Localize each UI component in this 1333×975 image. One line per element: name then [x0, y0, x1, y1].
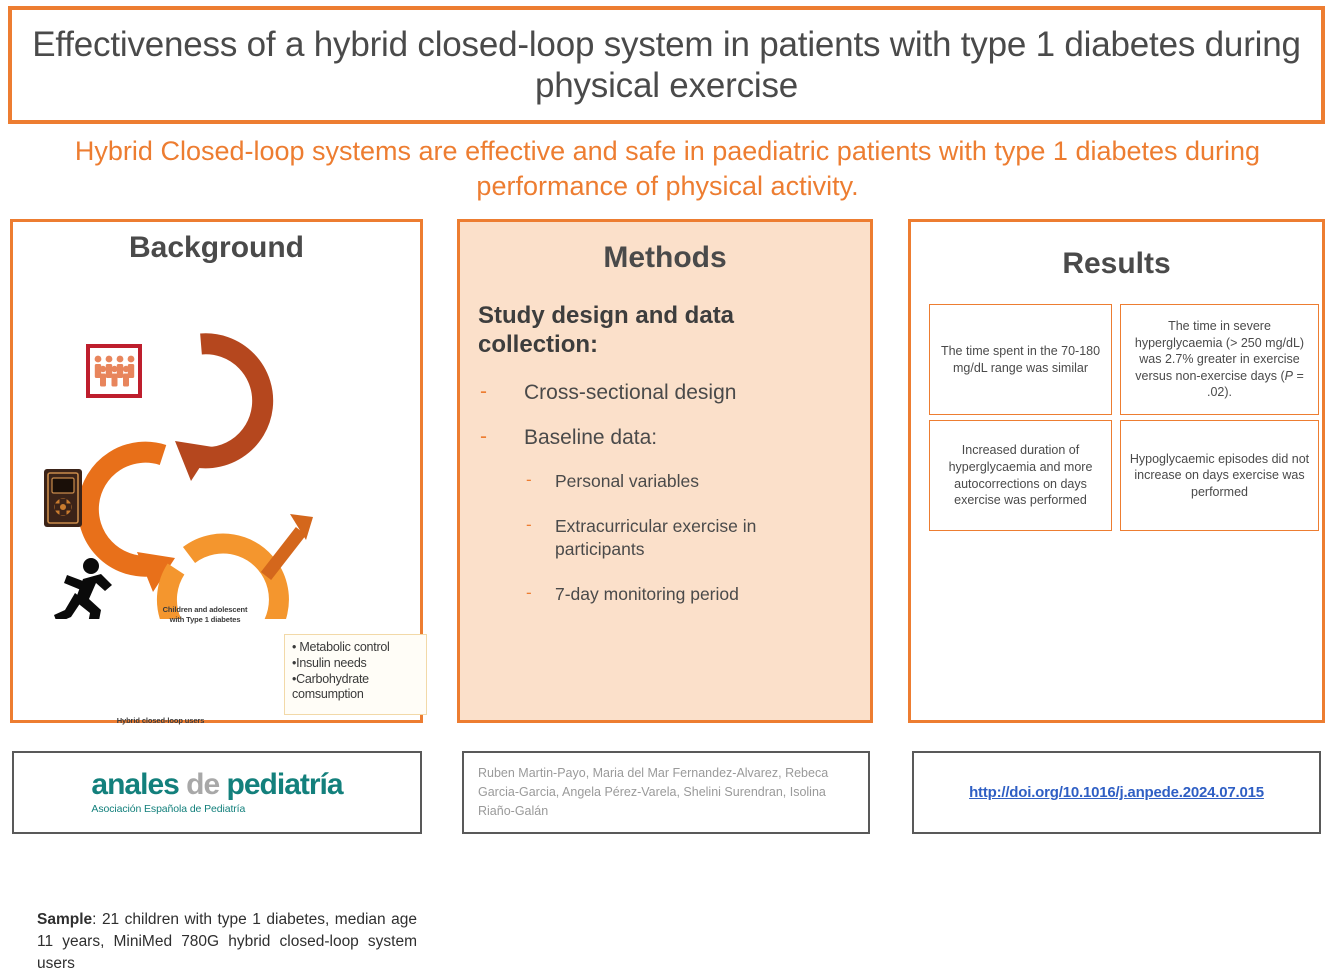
- authors-box: Ruben Martin-Payo, Maria del Mar Fernand…: [462, 751, 870, 834]
- list-marker: -: [478, 380, 524, 406]
- results-panel: Results The time spent in the 70-180 mg/…: [908, 219, 1325, 723]
- result-box-time-in-range: The time spent in the 70-180 mg/dL range…: [929, 304, 1112, 415]
- page-title: Effectiveness of a hybrid closed-loop sy…: [12, 24, 1321, 107]
- background-cycle-diagram: Children and adolescent with Type 1 diab…: [13, 269, 426, 619]
- background-panel-title: Background: [13, 231, 420, 265]
- methods-subitem-personal-variables: - Personal variables: [526, 470, 848, 493]
- logo-word-anales: anales: [91, 768, 178, 801]
- people-group-icon: [88, 346, 140, 396]
- methods-heading: Study design and data collection:: [478, 301, 848, 360]
- result-text: The time spent in the 70-180 mg/dL range…: [938, 343, 1103, 376]
- cycle-label-children: Children and adolescent with Type 1 diab…: [160, 605, 250, 625]
- result-text: Hypoglycaemic episodes did not increase …: [1129, 451, 1310, 501]
- methods-item-label: Cross-sectional design: [524, 380, 736, 406]
- methods-subitem-label: 7-day monitoring period: [555, 583, 739, 606]
- background-panel: Background: [10, 219, 423, 723]
- sample-label: Sample: [37, 911, 92, 928]
- logo-word-pediatria: pediatría: [227, 768, 343, 801]
- methods-item-baseline-data: - Baseline data:: [478, 425, 848, 451]
- methods-subitem-label: Extracurricular exercise in participants: [555, 515, 848, 561]
- cycle-diagram-svg: [13, 269, 426, 619]
- methods-panel-title: Methods: [460, 241, 870, 275]
- result-text-pre: The time in severe hyperglycaemia (> 250…: [1135, 319, 1304, 383]
- methods-item-label: Baseline data:: [524, 425, 657, 451]
- insulin-pump-icon: [44, 469, 82, 527]
- list-marker: -: [526, 470, 555, 493]
- runner-icon: [54, 558, 112, 619]
- methods-panel: Methods Study design and data collection…: [457, 219, 873, 723]
- doi-link[interactable]: http://doi.org/10.1016/j.anpede.2024.07.…: [969, 784, 1264, 801]
- bullet-metabolic-control: • Metabolic control: [292, 640, 422, 656]
- doi-box: http://doi.org/10.1016/j.anpede.2024.07.…: [912, 751, 1321, 834]
- journal-logo-box: anales de pediatría Asociación Española …: [12, 751, 422, 834]
- list-marker: -: [478, 425, 524, 451]
- methods-item-cross-sectional: - Cross-sectional design: [478, 380, 848, 406]
- result-text-italic: P: [1285, 369, 1293, 383]
- results-panel-title: Results: [911, 247, 1322, 281]
- list-marker: -: [526, 515, 555, 561]
- logo-wordmark: anales de pediatría: [91, 770, 342, 800]
- result-box-hyperglycaemia-duration: Increased duration of hyperglycaemia and…: [929, 420, 1112, 531]
- result-box-severe-hyperglycaemia: The time in severe hyperglycaemia (> 250…: [1120, 304, 1319, 415]
- sample-body: : 21 children with type 1 diabetes, medi…: [37, 911, 417, 972]
- methods-subitem-extracurricular-exercise: - Extracurricular exercise in participan…: [526, 515, 848, 561]
- poster-title-box: Effectiveness of a hybrid closed-loop sy…: [8, 6, 1325, 124]
- sample-description: Sample: 21 children with type 1 diabetes…: [37, 909, 417, 975]
- bullet-carbohydrate-cont: comsumption: [292, 687, 422, 703]
- logo-word-de: de: [186, 768, 219, 801]
- results-grid: The time spent in the 70-180 mg/dL range…: [929, 304, 1304, 531]
- methods-subitem-monitoring-period: - 7-day monitoring period: [526, 583, 848, 606]
- result-text: The time in severe hyperglycaemia (> 250…: [1129, 318, 1310, 401]
- circle-arrow-hcl-users-icon: [88, 452, 175, 592]
- outcome-bullets-box: • Metabolic control •Insulin needs •Carb…: [284, 634, 427, 715]
- bullet-carbohydrate: •Carbohydrate: [292, 672, 422, 688]
- methods-subitem-label: Personal variables: [555, 470, 699, 493]
- methods-body: Study design and data collection: - Cros…: [460, 275, 870, 605]
- anales-de-pediatria-logo: anales de pediatría Asociación Española …: [91, 770, 342, 815]
- result-box-hypoglycaemic-episodes: Hypoglycaemic episodes did not increase …: [1120, 420, 1319, 531]
- list-marker: -: [526, 583, 555, 606]
- poster-subtitle: Hybrid Closed-loop systems are effective…: [40, 134, 1295, 203]
- diagonal-arrow-icon: [266, 514, 313, 576]
- cycle-label-hcl-users: Hybrid closed-loop users: [108, 716, 213, 726]
- logo-tagline: Asociación Española de Pediatría: [91, 803, 342, 815]
- circle-arrow-children-icon: [175, 344, 263, 481]
- result-text: Increased duration of hyperglycaemia and…: [938, 442, 1103, 509]
- bullet-insulin-needs: •Insulin needs: [292, 656, 422, 672]
- authors-list: Ruben Martin-Payo, Maria del Mar Fernand…: [464, 764, 868, 821]
